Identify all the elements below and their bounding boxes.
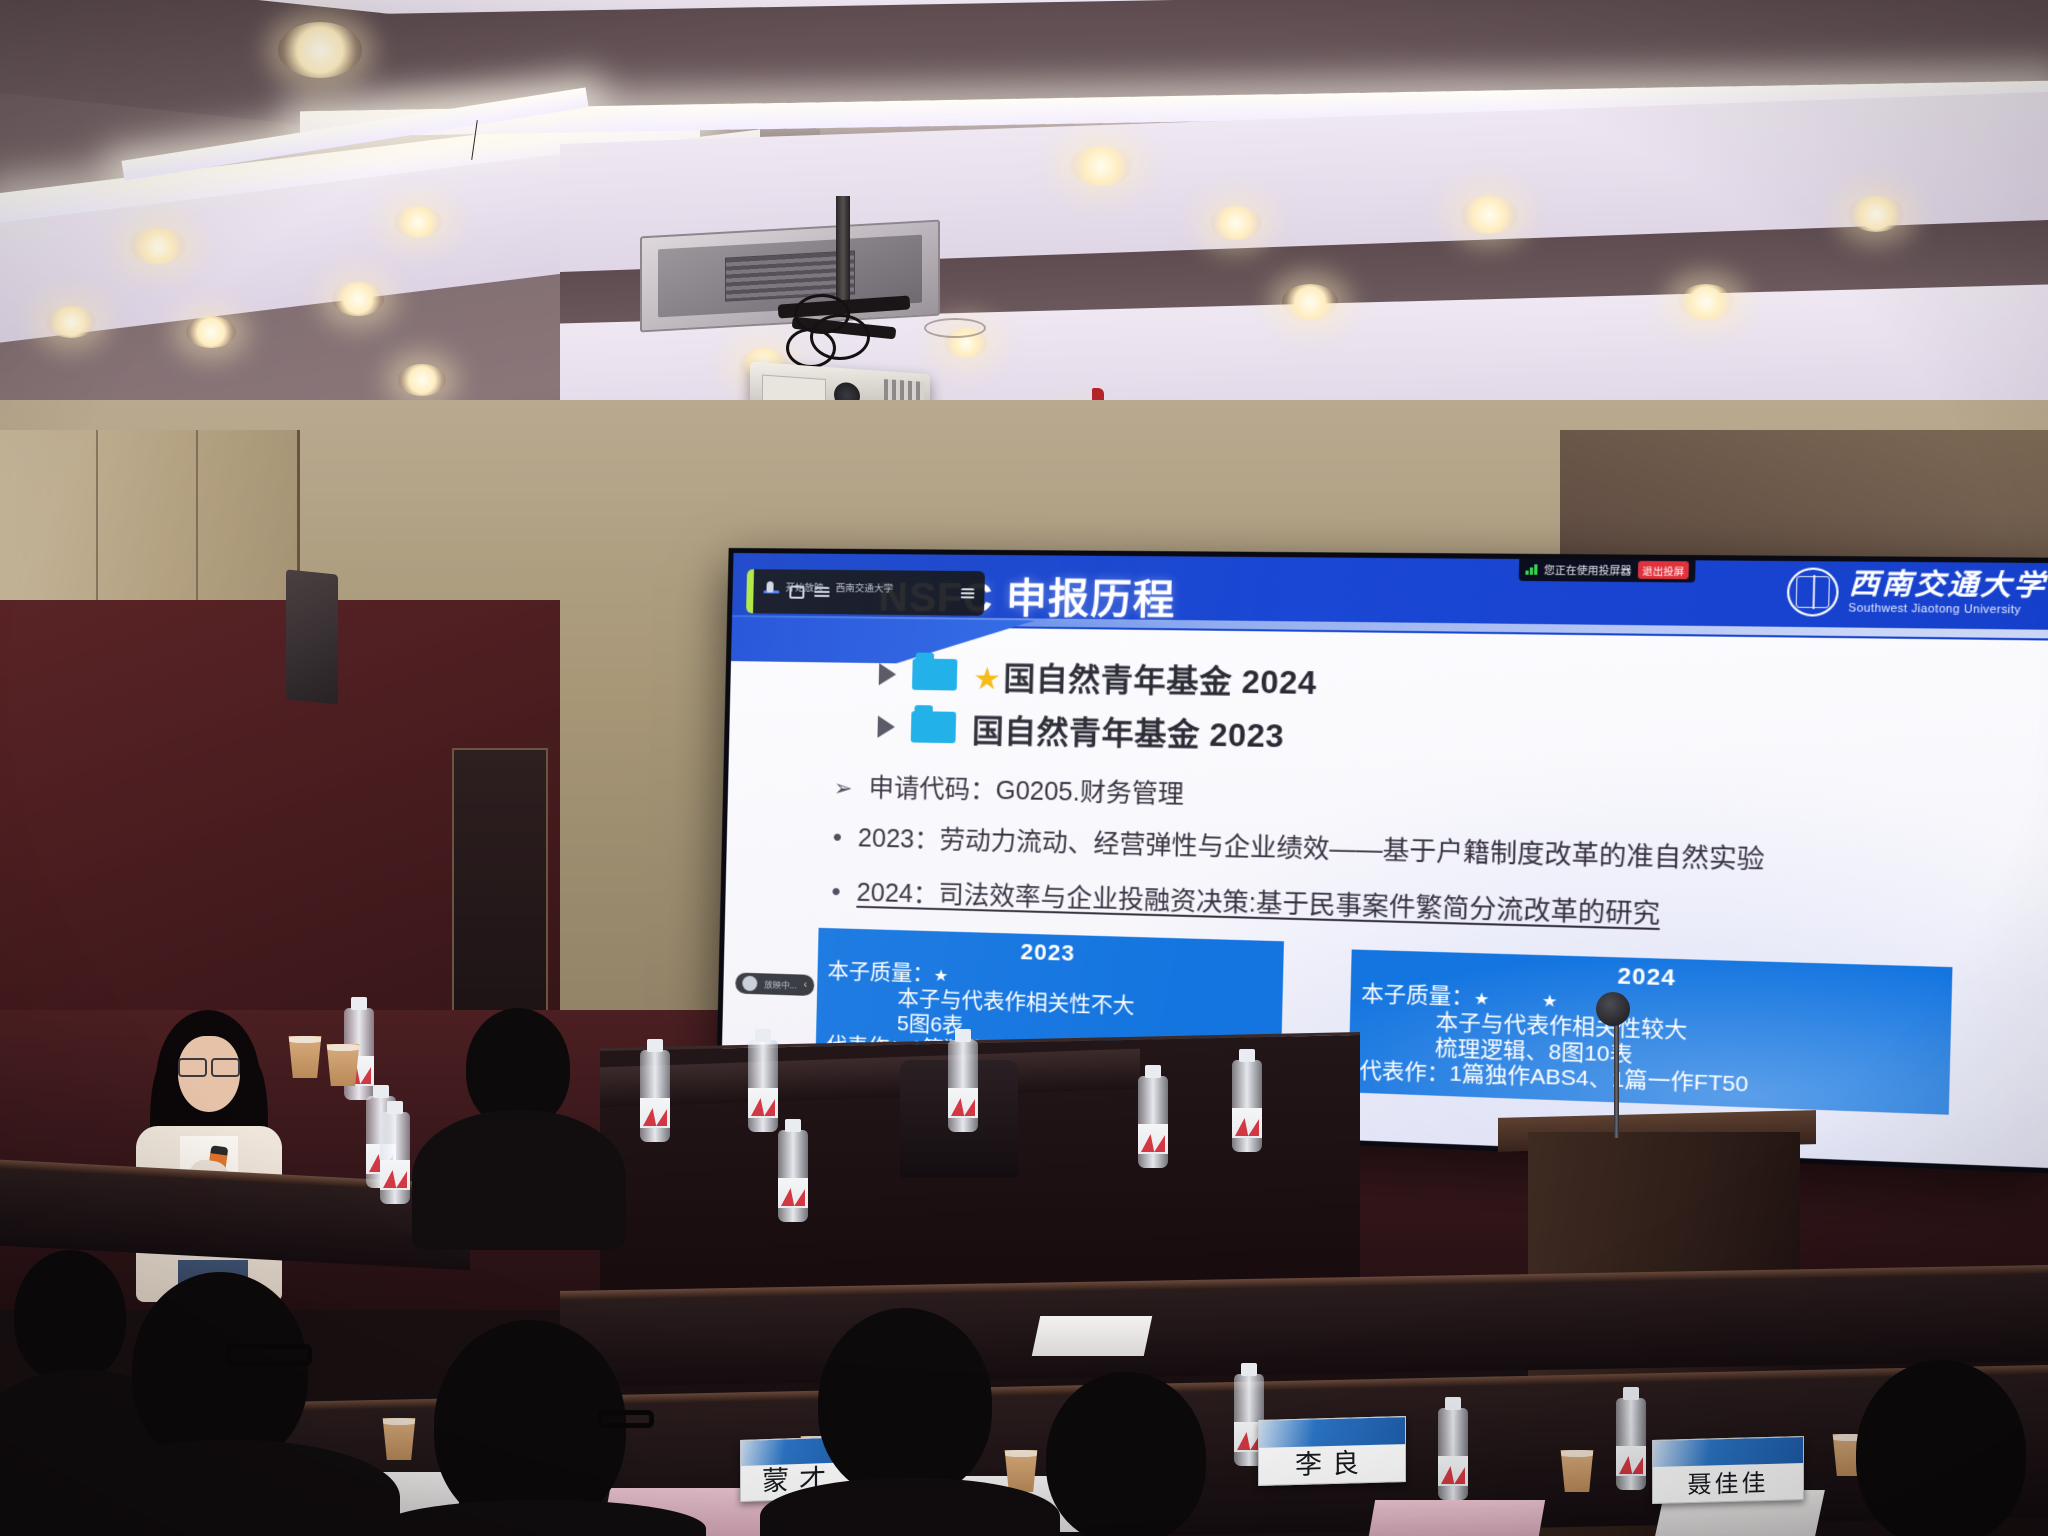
water-bottle	[380, 1112, 410, 1204]
screencast-status-chip[interactable]: 您正在使用投屏器 退出投屏	[1519, 557, 1695, 583]
slide-bullet: • 2023：劳动力流动、经营弹性与企业绩效——基于户籍制度改革的准自然实验	[832, 818, 1765, 877]
water-bottle	[948, 1040, 978, 1132]
bullet-text: 2023：劳动力流动、经营弹性与企业绩效——基于户籍制度改革的准自然实验	[858, 818, 1765, 877]
audience-head	[132, 1272, 308, 1468]
water-bottle	[1438, 1408, 1468, 1500]
chevron-left-icon[interactable]: ‹	[804, 980, 808, 991]
audience-head	[818, 1308, 992, 1498]
status-chip-text: 您正在使用投屏器	[1544, 561, 1632, 577]
audience-head	[14, 1250, 126, 1382]
folder-row[interactable]: ★国自然青年基金 2024	[878, 651, 1317, 703]
bullet-dot-icon: •	[832, 824, 842, 850]
toolbar-label: 西南交通大学	[836, 580, 894, 595]
mini-widget-label: 放映中...	[764, 978, 797, 991]
bullet-text: 2024：司法效率与企业投融资决策:基于民事案件繁简分流改革的研究	[856, 872, 1660, 931]
eyeglasses-icon	[598, 1410, 654, 1428]
align-icon[interactable]	[961, 588, 975, 599]
microphone-stand	[1614, 1018, 1619, 1138]
screencast-toolbar-subrow[interactable]: 开始放映 西南交通大学	[766, 579, 893, 594]
folder-row[interactable]: 国自然青年基金 2023	[877, 703, 1285, 756]
wall-speaker	[286, 569, 338, 704]
bullet-dot-icon: •	[831, 878, 841, 904]
doorway	[452, 748, 548, 1048]
nameplate-name: 聂佳佳	[1688, 1463, 1769, 1502]
university-logo: 西南交通大学 Southwest Jiaotong University	[1786, 567, 2047, 619]
ceiling	[0, 0, 2048, 440]
folder-icon[interactable]	[912, 659, 957, 691]
university-seal-icon	[1786, 567, 1839, 616]
eyeglasses-icon	[226, 1344, 312, 1366]
microphone-icon[interactable]	[766, 581, 773, 592]
handout-paper	[1032, 1316, 1153, 1356]
water-bottle	[1616, 1398, 1646, 1490]
nameplate: 聂佳佳	[1652, 1436, 1804, 1504]
microphone-head-icon	[1596, 992, 1630, 1026]
water-bottle	[748, 1040, 778, 1132]
slideshow-mini-widget[interactable]: 放映中... ‹	[735, 972, 814, 996]
screenshot-root: NSFC 申报历程 西南交通大学 Southwest Jiaotong Univ…	[0, 0, 2048, 1536]
slide-bullet: • 2024：司法效率与企业投融资决策:基于民事案件繁简分流改革的研究	[831, 872, 1660, 931]
university-name-en: Southwest Jiaotong University	[1848, 602, 2046, 617]
presenter	[128, 1010, 288, 1310]
expand-triangle-icon[interactable]	[877, 715, 895, 738]
signal-bars-icon	[1526, 563, 1538, 575]
circle-icon[interactable]	[742, 976, 757, 991]
audience-head	[1046, 1372, 1206, 1536]
water-bottle	[1232, 1060, 1262, 1152]
water-bottle	[640, 1050, 670, 1142]
nameplate: 李良	[1258, 1416, 1406, 1486]
exit-cast-badge[interactable]: 退出投屏	[1638, 561, 1689, 579]
audience-head	[1856, 1360, 2026, 1536]
audience-body	[412, 1110, 626, 1250]
compare-box-2024: 2024 本子质量：★ ★ 本子与代表作相关性较大 梳理逻辑、8图10表 代表作…	[1348, 949, 1952, 1114]
water-bottle	[1138, 1076, 1168, 1168]
quality-stars-icon: ★ ★	[1474, 991, 1582, 1012]
toolbar-label: 开始放映	[785, 580, 823, 594]
star-icon: ★	[973, 662, 1002, 696]
quality-stars-icon: ★	[933, 968, 970, 986]
eyeglasses-icon	[178, 1058, 240, 1073]
university-name-cn: 西南交通大学	[1849, 570, 2047, 601]
expand-triangle-icon[interactable]	[879, 663, 897, 685]
bullet-arrow-icon: ➢	[834, 775, 853, 802]
folder-icon[interactable]	[911, 711, 956, 743]
bullet-text: 申请代码：G0205.财务管理	[868, 768, 1184, 811]
nameplate-name: 李良	[1295, 1441, 1369, 1484]
folder-label: ★国自然青年基金 2024	[973, 652, 1317, 703]
handout-paper-pink	[1369, 1500, 1545, 1536]
folder-label: 国自然青年基金 2023	[972, 705, 1285, 756]
slide-bullet: ➢ 申请代码：G0205.财务管理	[834, 767, 1185, 811]
audience-head	[434, 1320, 626, 1530]
water-bottle	[778, 1130, 808, 1222]
